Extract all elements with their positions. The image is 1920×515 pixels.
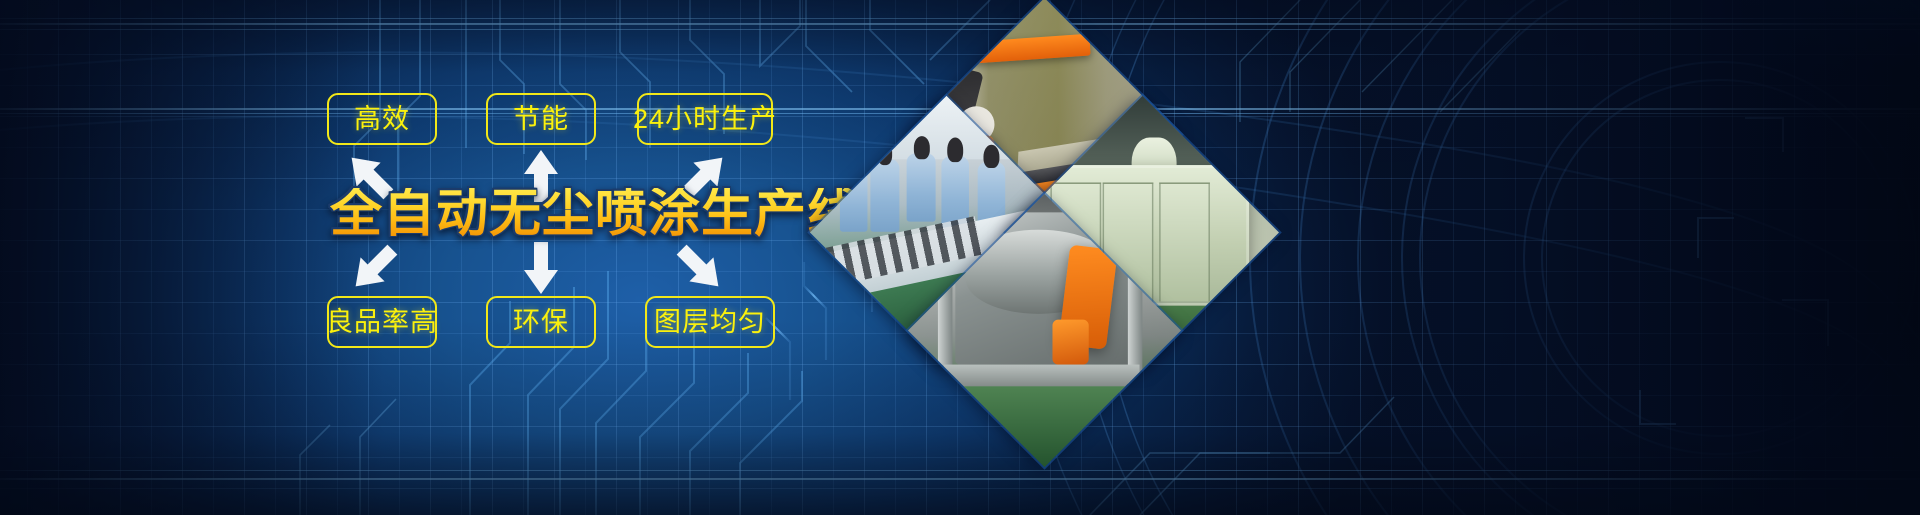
badge-label: 环保 [513,309,569,336]
badge-label: 图层均匀 [654,309,766,336]
page-title: 全自动无尘喷涂生产线 [330,188,860,241]
badge-top-2[interactable]: 节能 [486,93,596,145]
badge-bottom-2[interactable]: 环保 [486,296,596,348]
badge-top-1[interactable]: 高效 [327,93,437,145]
badge-label: 节能 [513,106,569,133]
arrow-down-icon [524,242,558,294]
badge-top-3[interactable]: 24小时生产 [637,93,773,145]
badge-label: 高效 [354,106,410,133]
photo-collage [850,38,1240,428]
arrow-down-left-icon [344,238,405,299]
badge-label: 良品率高 [326,309,438,336]
badge-bottom-1[interactable]: 良品率高 [327,296,437,348]
badge-bottom-3[interactable]: 图层均匀 [645,296,775,348]
badge-label: 24小时生产 [633,106,777,133]
arrow-down-right-icon [670,238,731,299]
promo-banner: 高效 节能 24小时生产 良品率高 环保 图层均匀 [0,0,1920,515]
